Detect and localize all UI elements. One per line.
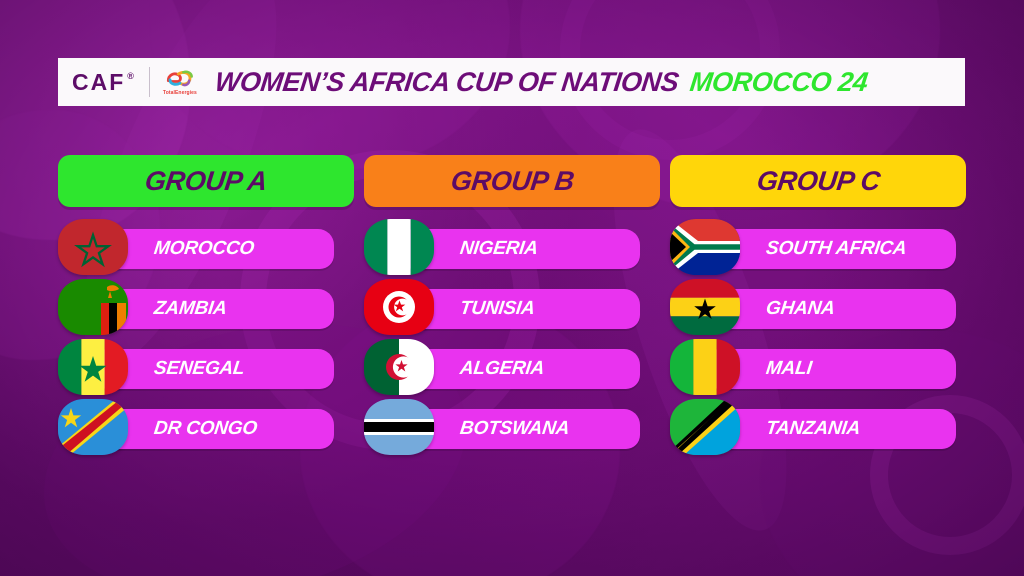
botswana-flag [364,399,434,455]
totalenergies-logo: TotalEnergies [163,69,197,96]
morocco-flag [58,219,128,275]
logo-divider [149,67,150,97]
nigeria-flag [364,219,434,275]
caf-logo-text: CAF [72,71,125,94]
team-row[interactable]: MALI [670,339,966,399]
team-row[interactable]: ALGERIA [364,339,660,399]
zambia-flag [58,279,128,335]
group-label-c: GROUP C [755,166,882,197]
team-list-a: MOROCCO ZAMBIA [58,219,354,459]
title-bar: CAF ® TotalEnergies WOMEN’S AFRICA CUP O… [58,58,965,106]
team-name: SOUTH AFRICA [764,229,909,269]
team-pill [708,349,956,389]
team-name: TUNISIA [458,289,538,329]
registered-mark: ® [127,72,136,81]
group-header-c: GROUP C [670,155,966,207]
team-row[interactable]: SENEGAL [58,339,354,399]
team-name: ALGERIA [458,349,547,389]
team-row[interactable]: BOTSWANA [364,399,660,459]
group-column-b: GROUP B NIGERIA [364,155,660,459]
page-title-accent: MOROCCO 24 [688,67,869,98]
team-list-c: SOUTH AFRICA GHANA [670,219,966,459]
group-column-a: GROUP A MOROCCO [58,155,354,459]
dr-congo-flag [58,399,128,455]
team-name: ZAMBIA [152,289,230,329]
tournament-group-draw-graphic: CAF ® TotalEnergies WOMEN’S AFRICA CUP O… [0,0,1024,576]
team-row[interactable]: TUNISIA [364,279,660,339]
team-name: DR CONGO [152,409,260,449]
south-africa-flag [670,219,740,275]
team-name: BOTSWANA [458,409,572,449]
algeria-flag [364,339,434,395]
team-name: TANZANIA [764,409,863,449]
team-row[interactable]: ZAMBIA [58,279,354,339]
team-row[interactable]: DR CONGO [58,399,354,459]
team-name: MALI [764,349,815,389]
team-list-b: NIGERIA TUNISIA [364,219,660,459]
tanzania-flag [670,399,740,455]
team-name: MOROCCO [152,229,257,269]
page-title: WOMEN’S AFRICA CUP OF NATIONS [213,67,680,98]
mali-flag [670,339,740,395]
team-row[interactable]: SOUTH AFRICA [670,219,966,279]
group-label-a: GROUP A [143,166,269,197]
team-name: GHANA [764,289,838,329]
team-row[interactable]: NIGERIA [364,219,660,279]
groups-container: GROUP A MOROCCO [58,155,968,459]
event-title: WOMEN’S AFRICA CUP OF NATIONS MOROCCO 24 [215,67,868,98]
group-column-c: GROUP C [670,155,966,459]
group-header-a: GROUP A [58,155,354,207]
team-row[interactable]: MOROCCO [58,219,354,279]
ghana-flag [670,279,740,335]
team-row[interactable]: TANZANIA [670,399,966,459]
totalenergies-wordmark: TotalEnergies [163,91,197,96]
team-row[interactable]: GHANA [670,279,966,339]
group-header-b: GROUP B [364,155,660,207]
tunisia-flag [364,279,434,335]
totalenergies-mark-icon [163,69,197,89]
team-name: SENEGAL [152,349,247,389]
team-name: NIGERIA [458,229,541,269]
senegal-flag [58,339,128,395]
caf-logo: CAF ® [72,71,136,94]
group-label-b: GROUP B [449,166,576,197]
